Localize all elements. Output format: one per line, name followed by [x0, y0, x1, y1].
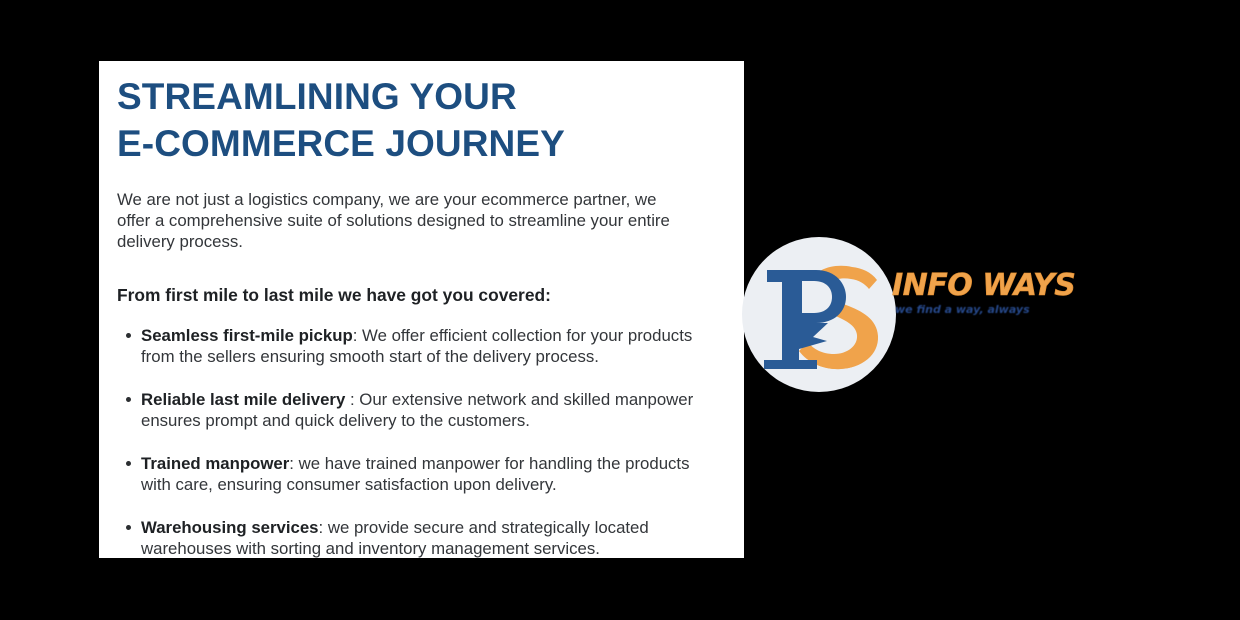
page-title: STREAMLINING YOUR E-COMMERCE JOURNEY	[117, 73, 730, 167]
list-item: Reliable last mile delivery : Our extens…	[117, 389, 721, 431]
list-item: Warehousing services: we provide secure …	[117, 517, 721, 558]
page-title-line-2: E-COMMERCE JOURNEY	[117, 120, 730, 167]
logo-monogram-ps-icon	[742, 237, 896, 392]
feature-term: Warehousing services	[141, 518, 319, 537]
logo-tagline: we find a way, always	[895, 303, 1082, 316]
section-subheading: From first mile to last mile we have got…	[117, 284, 730, 306]
company-logo: INFO WAYS we find a way, always	[742, 237, 1082, 395]
feature-term: Trained manpower	[141, 454, 289, 473]
feature-term: Reliable last mile delivery	[141, 390, 345, 409]
list-item: Seamless first-mile pickup: We offer eff…	[117, 325, 721, 367]
logo-wordmark: INFO WAYS	[892, 270, 1082, 302]
content-card: STREAMLINING YOUR E-COMMERCE JOURNEY We …	[99, 61, 744, 558]
page-title-line-1: STREAMLINING YOUR	[117, 73, 730, 120]
bullet-icon	[126, 333, 131, 338]
bullet-icon	[126, 461, 131, 466]
intro-paragraph: We are not just a logistics company, we …	[117, 189, 683, 252]
card-content: STREAMLINING YOUR E-COMMERCE JOURNEY We …	[117, 73, 730, 558]
bullet-icon	[126, 525, 131, 530]
features-list: Seamless first-mile pickup: We offer eff…	[117, 325, 730, 558]
feature-term: Seamless first-mile pickup	[141, 326, 353, 345]
page-canvas: STREAMLINING YOUR E-COMMERCE JOURNEY We …	[0, 0, 1240, 620]
logo-wordmark-block: INFO WAYS we find a way, always	[892, 270, 1082, 316]
bullet-icon	[126, 397, 131, 402]
list-item: Trained manpower: we have trained manpow…	[117, 453, 721, 495]
